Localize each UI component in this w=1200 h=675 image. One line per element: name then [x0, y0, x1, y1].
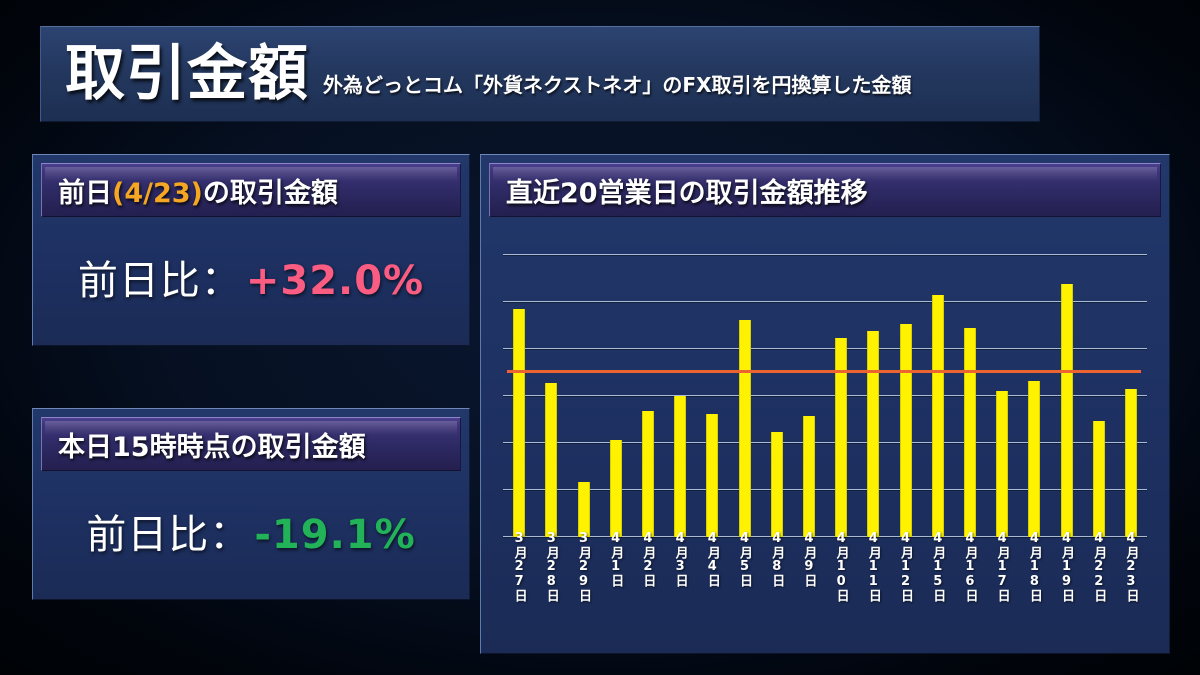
- x-axis-label: 4月12日: [896, 531, 915, 602]
- x-axis-label: 4月8日: [767, 531, 786, 587]
- today-panel: 本日15時時点の取引金額 前日比：-19.1%: [32, 408, 470, 600]
- chart-bars: [503, 255, 1147, 537]
- previous-day-body: 前日比：+32.0%: [41, 217, 461, 337]
- chart-bar: [739, 320, 751, 537]
- x-axis-label: 4月1日: [606, 531, 625, 587]
- x-axis-label: 4月17日: [993, 531, 1012, 602]
- x-label-slot: 3月27日: [503, 531, 535, 631]
- x-axis-label: 4月2日: [638, 531, 657, 587]
- chart-bar: [835, 338, 847, 537]
- chart-bar: [545, 383, 557, 537]
- chart-header-text: 直近20営業日の取引金額推移: [506, 171, 868, 210]
- bar-slot: [1115, 255, 1147, 537]
- bar-slot: [1018, 255, 1050, 537]
- today-metric-value: -19.1%: [254, 512, 415, 558]
- title-bar: 取引金額 外為どっとコム「外貨ネクストネオ」のFX取引を円換算した金額: [40, 26, 1040, 122]
- previous-day-metric-label: 前日比：: [78, 258, 242, 304]
- bar-slot: [825, 255, 857, 537]
- bar-slot: [1083, 255, 1115, 537]
- chart-bar: [610, 440, 622, 537]
- chart-bar: [932, 295, 944, 537]
- x-label-slot: 4月12日: [889, 531, 921, 631]
- today-header: 本日15時時点の取引金額: [41, 417, 461, 471]
- bar-slot: [793, 255, 825, 537]
- x-label-slot: 4月5日: [728, 531, 760, 631]
- x-axis-label: 4月5日: [735, 531, 754, 587]
- today-header-text: 本日15時時点の取引金額: [58, 425, 366, 464]
- chart-bar: [996, 391, 1008, 537]
- x-axis-label: 4月16日: [960, 531, 979, 602]
- chart-bar: [1093, 421, 1105, 537]
- bar-slot: [889, 255, 921, 537]
- previous-day-header-suffix: の取引金額: [203, 178, 338, 209]
- chart-bar: [900, 324, 912, 537]
- x-label-slot: 4月1日: [600, 531, 632, 631]
- chart-bar: [867, 331, 879, 537]
- x-axis-label: 4月18日: [1025, 531, 1044, 602]
- bar-slot: [632, 255, 664, 537]
- x-label-slot: 4月15日: [922, 531, 954, 631]
- bar-slot: [567, 255, 599, 537]
- bar-slot: [696, 255, 728, 537]
- bar-slot: [664, 255, 696, 537]
- x-label-slot: 4月18日: [1018, 531, 1050, 631]
- previous-day-metric: 前日比：+32.0%: [78, 248, 424, 306]
- x-axis-label: 3月28日: [542, 531, 561, 602]
- bar-slot: [954, 255, 986, 537]
- bar-slot: [600, 255, 632, 537]
- x-label-slot: 4月8日: [761, 531, 793, 631]
- x-axis-label: 4月11日: [864, 531, 883, 602]
- bar-slot: [1050, 255, 1082, 537]
- page-title: 取引金額: [65, 44, 309, 104]
- x-axis-label: 4月4日: [703, 531, 722, 587]
- chart-bar: [1125, 389, 1137, 537]
- today-body: 前日比：-19.1%: [41, 471, 461, 591]
- average-line: [507, 370, 1141, 373]
- bar-slot: [503, 255, 535, 537]
- x-axis-label: 3月29日: [574, 531, 593, 602]
- bar-slot: [857, 255, 889, 537]
- x-label-slot: 4月4日: [696, 531, 728, 631]
- x-axis-label: 4月23日: [1121, 531, 1140, 602]
- today-metric-label: 前日比：: [86, 512, 250, 558]
- chart-plot: [503, 255, 1147, 537]
- today-metric: 前日比：-19.1%: [86, 502, 415, 560]
- x-label-slot: 3月29日: [567, 531, 599, 631]
- previous-day-header: 前日(4/23)の取引金額: [41, 163, 461, 217]
- chart-bar: [674, 396, 686, 537]
- chart-bar: [642, 411, 654, 537]
- x-axis-label: 4月10日: [832, 531, 851, 602]
- x-label-slot: 4月17日: [986, 531, 1018, 631]
- chart-header: 直近20営業日の取引金額推移: [489, 163, 1161, 217]
- bar-slot: [761, 255, 793, 537]
- chart-bar: [803, 416, 815, 537]
- chart-bar: [706, 414, 718, 537]
- previous-day-header-prefix: 前日: [58, 178, 112, 209]
- x-axis-label: 4月15日: [928, 531, 947, 602]
- previous-day-header-date: (4/23): [112, 178, 203, 209]
- x-axis-label: 3月27日: [510, 531, 529, 602]
- chart-area: 3月27日3月28日3月29日4月1日4月2日4月3日4月4日4月5日4月8日4…: [489, 217, 1161, 645]
- x-label-slot: 4月16日: [954, 531, 986, 631]
- bar-slot: [922, 255, 954, 537]
- x-label-slot: 4月23日: [1115, 531, 1147, 631]
- x-label-slot: 4月2日: [632, 531, 664, 631]
- x-label-slot: 4月11日: [857, 531, 889, 631]
- x-axis-label: 4月3日: [671, 531, 690, 587]
- chart-bar: [513, 309, 525, 537]
- chart-bar: [771, 432, 783, 537]
- chart-bar: [578, 482, 590, 537]
- x-label-slot: 4月3日: [664, 531, 696, 631]
- bar-slot: [986, 255, 1018, 537]
- x-axis-label: 4月22日: [1089, 531, 1108, 602]
- chart-x-axis-labels: 3月27日3月28日3月29日4月1日4月2日4月3日4月4日4月5日4月8日4…: [503, 531, 1147, 631]
- x-label-slot: 4月22日: [1083, 531, 1115, 631]
- x-label-slot: 4月19日: [1050, 531, 1082, 631]
- previous-day-metric-value: +32.0%: [246, 258, 424, 304]
- x-label-slot: 4月10日: [825, 531, 857, 631]
- chart-bar: [1061, 284, 1073, 537]
- chart-panel: 直近20営業日の取引金額推移 3月27日3月28日3月29日4月1日4月2日4月…: [480, 154, 1170, 654]
- chart-bar: [964, 328, 976, 537]
- bar-slot: [728, 255, 760, 537]
- x-axis-label: 4月9日: [799, 531, 818, 587]
- chart-bar: [1028, 381, 1040, 537]
- previous-day-header-text: 前日(4/23)の取引金額: [58, 171, 338, 210]
- previous-day-panel: 前日(4/23)の取引金額 前日比：+32.0%: [32, 154, 470, 346]
- x-label-slot: 3月28日: [535, 531, 567, 631]
- x-axis-label: 4月19日: [1057, 531, 1076, 602]
- slide-root: 取引金額 外為どっとコム「外貨ネクストネオ」のFX取引を円換算した金額 前日(4…: [0, 0, 1200, 675]
- bar-slot: [535, 255, 567, 537]
- page-subtitle: 外為どっとコム「外貨ネクストネオ」のFX取引を円換算した金額: [323, 69, 911, 98]
- x-label-slot: 4月9日: [793, 531, 825, 631]
